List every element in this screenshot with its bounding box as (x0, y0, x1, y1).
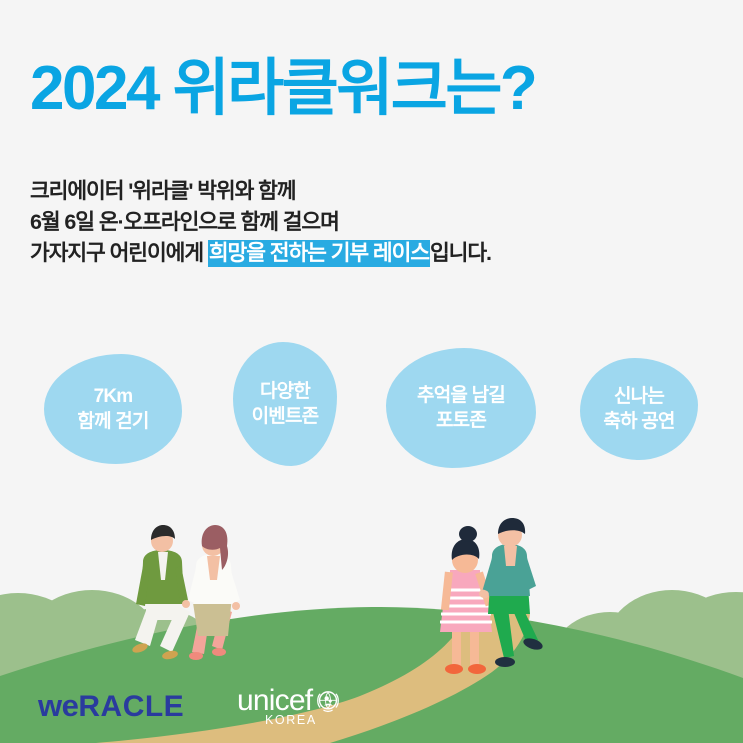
logo-weracle[interactable]: weRACLE (38, 688, 184, 724)
logo-unicef[interactable]: unicef KOREA (237, 683, 347, 729)
logo-unicef-country: KOREA (265, 713, 317, 727)
feature-blob-photo-zone-line-1: 추억을 남길 (417, 383, 505, 408)
feature-blob-group: 7Km 함께 걷기 다양한 이벤트존 추억을 남길 포토존 신나는 축하 공연 (0, 340, 743, 470)
body-copy-highlight: 희망을 전하는 기부 레이스 (208, 240, 430, 267)
feature-blob-distance-line-1: 7Km (77, 384, 148, 409)
body-copy-line-3: 가자지구 어린이에게 희망을 전하는 기부 레이스입니다. (30, 238, 491, 269)
logo-weracle-we: we (38, 688, 78, 723)
body-copy-line-3-suffix: 입니다. (430, 241, 491, 265)
feature-blob-event-zone-line-2: 이벤트존 (252, 404, 319, 429)
feature-blob-photo-zone[interactable]: 추억을 남길 포토존 (386, 348, 536, 468)
body-copy-line-2: 6월 6일 온·오프라인으로 함께 걸으며 (30, 207, 491, 238)
feature-blob-distance-line-2: 함께 걷기 (77, 409, 148, 434)
feature-blob-event-zone[interactable]: 다양한 이벤트존 (233, 342, 337, 466)
body-copy-line-1: 크리에이터 '위라클' 박위와 함께 (30, 176, 491, 207)
page-title: 2024 위라클워크는? (30, 58, 535, 120)
logo-weracle-racle: RACLE (78, 690, 184, 723)
feature-blob-distance[interactable]: 7Km 함께 걷기 (44, 354, 182, 464)
feature-blob-celebration-line-2: 축하 공연 (603, 409, 674, 434)
feature-blob-event-zone-line-1: 다양한 (252, 379, 319, 404)
unicef-emblem-icon (315, 688, 341, 714)
body-copy: 크리에이터 '위라클' 박위와 함께 6월 6일 온·오프라인으로 함께 걸으며… (30, 176, 491, 269)
feature-blob-photo-zone-line-2: 포토존 (417, 408, 505, 433)
logo-unicef-wordmark: unicef (237, 686, 312, 716)
feature-blob-celebration-line-1: 신나는 (603, 384, 674, 409)
poster-canvas: 2024 위라클워크는? 크리에이터 '위라클' 박위와 함께 6월 6일 온·… (0, 0, 743, 743)
feature-blob-celebration[interactable]: 신나는 축하 공연 (580, 358, 698, 460)
logo-bar: weRACLE unicef KOREA for every child (0, 683, 743, 733)
body-copy-line-3-prefix: 가자지구 어린이에게 (30, 241, 208, 265)
